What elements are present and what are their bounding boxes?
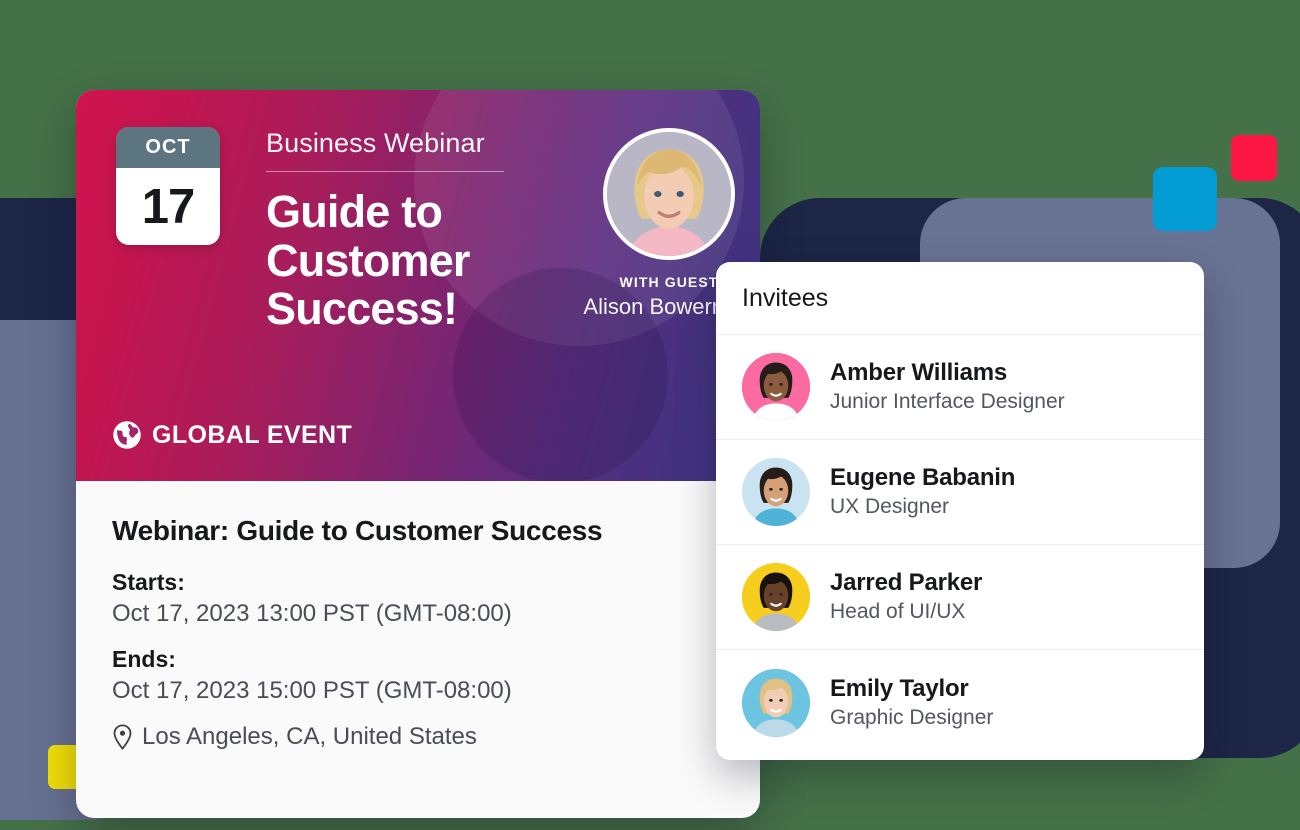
invitee-name: Emily Taylor <box>830 674 993 704</box>
invitee-row[interactable]: Eugene BabaninUX Designer <box>716 440 1204 545</box>
ends-value: Oct 17, 2023 15:00 PST (GMT-08:00) <box>112 677 724 705</box>
invitee-row[interactable]: Emily TaylorGraphic Designer <box>716 650 1204 755</box>
calendar-icon: OCT 17 <box>116 127 220 245</box>
invitee-avatar <box>742 458 810 526</box>
calendar-month-label: OCT <box>116 127 220 168</box>
event-details: Webinar: Guide to Customer Success Start… <box>76 481 760 751</box>
banner-divider <box>266 171 504 172</box>
invitees-panel: Invitees Amber WilliamsJunior Interface … <box>716 262 1204 760</box>
starts-label: Starts: <box>112 569 724 596</box>
event-location-row: Los Angeles, CA, United States <box>112 723 724 751</box>
invitee-avatar <box>742 563 810 631</box>
background-square-red-icon <box>1231 135 1277 181</box>
invitee-avatar <box>742 669 810 737</box>
invitee-text-block: Eugene BabaninUX Designer <box>830 463 1015 520</box>
guest-avatar <box>603 128 735 260</box>
invitee-text-block: Jarred ParkerHead of UI/UX <box>830 568 982 625</box>
starts-value: Oct 17, 2023 13:00 PST (GMT-08:00) <box>112 600 724 628</box>
invitee-row[interactable]: Amber WilliamsJunior Interface Designer <box>716 335 1204 440</box>
background-square-blue-icon <box>1153 167 1217 231</box>
banner-kicker: Business Webinar <box>266 128 536 159</box>
invitee-role: Head of UI/UX <box>830 598 982 625</box>
event-location-label: Los Angeles, CA, United States <box>142 723 477 751</box>
event-heading: Webinar: Guide to Customer Success <box>112 515 724 547</box>
invitee-text-block: Amber WilliamsJunior Interface Designer <box>830 358 1065 415</box>
invitee-row[interactable]: Jarred ParkerHead of UI/UX <box>716 545 1204 650</box>
invitees-title: Invitees <box>742 284 828 313</box>
global-event-tag: GLOBAL EVENT <box>112 420 352 450</box>
invitees-list: Amber WilliamsJunior Interface DesignerE… <box>716 335 1204 755</box>
banner-text-block: Business Webinar Guide to Customer Succe… <box>266 128 536 334</box>
invitee-role: Graphic Designer <box>830 704 993 731</box>
invitee-role: UX Designer <box>830 493 1015 520</box>
invitees-header: Invitees <box>716 262 1204 335</box>
calendar-day-label: 17 <box>116 168 220 245</box>
invitee-name: Jarred Parker <box>830 568 982 598</box>
event-card: OCT 17 Business Webinar Guide to Custome… <box>76 90 760 818</box>
event-banner: OCT 17 Business Webinar Guide to Custome… <box>76 90 760 481</box>
invitee-avatar <box>742 353 810 421</box>
map-pin-icon <box>112 724 133 750</box>
globe-icon <box>112 420 142 450</box>
invitee-name: Eugene Babanin <box>830 463 1015 493</box>
banner-title: Guide to Customer Success! <box>266 188 536 334</box>
invitee-role: Junior Interface Designer <box>830 388 1065 415</box>
ends-label: Ends: <box>112 646 724 673</box>
global-event-label: GLOBAL EVENT <box>152 421 352 450</box>
invitee-text-block: Emily TaylorGraphic Designer <box>830 674 993 731</box>
invitee-name: Amber Williams <box>830 358 1065 388</box>
